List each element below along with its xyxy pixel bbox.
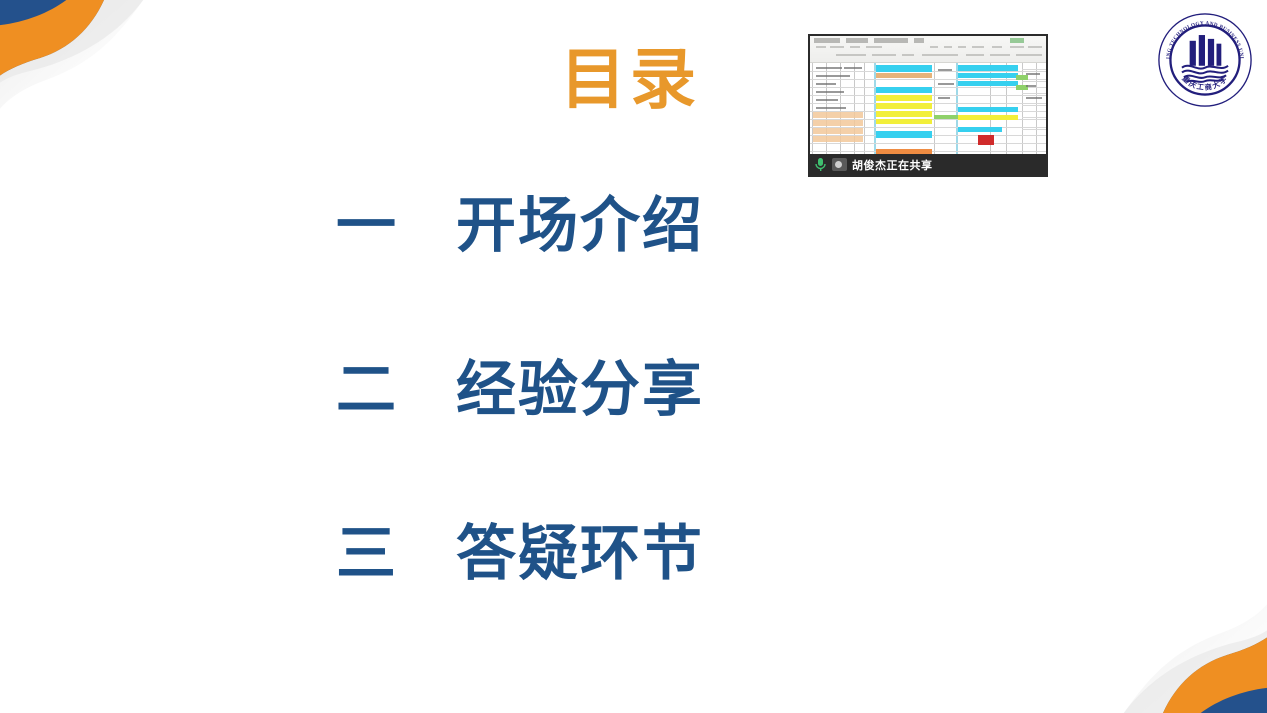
spreadsheet-grid bbox=[810, 63, 1046, 159]
deco-blue-wave bbox=[0, 0, 108, 84]
deco-blue-wave bbox=[1159, 629, 1267, 713]
share-status-bar: 胡俊杰正在共享 bbox=[810, 154, 1046, 175]
deco-shadow-sweep-2 bbox=[1117, 621, 1267, 713]
screen-share-icon bbox=[832, 158, 847, 171]
microphone-icon bbox=[814, 157, 827, 172]
screen-share-thumbnail[interactable]: 胡俊杰正在共享 bbox=[808, 34, 1048, 177]
wave-ribbon-bottom-right-icon bbox=[1067, 583, 1267, 713]
toc-item-3[interactable]: 三 答疑环节 bbox=[336, 524, 896, 688]
page-title: 目录 bbox=[560, 46, 700, 112]
toc-item-3-label: 答疑环节 bbox=[456, 524, 704, 584]
toc-item-1[interactable]: 一 开场介绍 bbox=[336, 196, 896, 360]
deco-shadow-sweep bbox=[1117, 588, 1267, 713]
university-logo-icon: CHONGQING TECHNOLOGY AND BUSINESS UNIVER… bbox=[1157, 12, 1253, 108]
toc-item-1-label: 开场介绍 bbox=[456, 196, 704, 256]
toc-item-2[interactable]: 二 经验分享 bbox=[336, 360, 896, 524]
deco-orange-wave bbox=[1159, 629, 1267, 713]
share-status-text: 胡俊杰正在共享 bbox=[852, 157, 933, 173]
toc-item-2-label: 经验分享 bbox=[456, 360, 704, 420]
logo-building-motif bbox=[1190, 35, 1222, 66]
deco-shadow-sweep-2 bbox=[0, 0, 150, 92]
table-of-contents: 一 开场介绍 二 经验分享 三 答疑环节 bbox=[336, 196, 896, 688]
toc-item-2-index: 二 bbox=[336, 360, 456, 420]
spreadsheet-ribbon bbox=[810, 36, 1046, 63]
deco-shadow-sweep bbox=[0, 0, 150, 125]
slide-canvas: 目录 bbox=[0, 0, 1267, 713]
toc-item-1-index: 一 bbox=[336, 196, 456, 256]
toc-item-3-index: 三 bbox=[336, 524, 456, 584]
deco-orange-wave bbox=[0, 0, 108, 84]
wave-ribbon-top-left-icon bbox=[0, 0, 200, 130]
